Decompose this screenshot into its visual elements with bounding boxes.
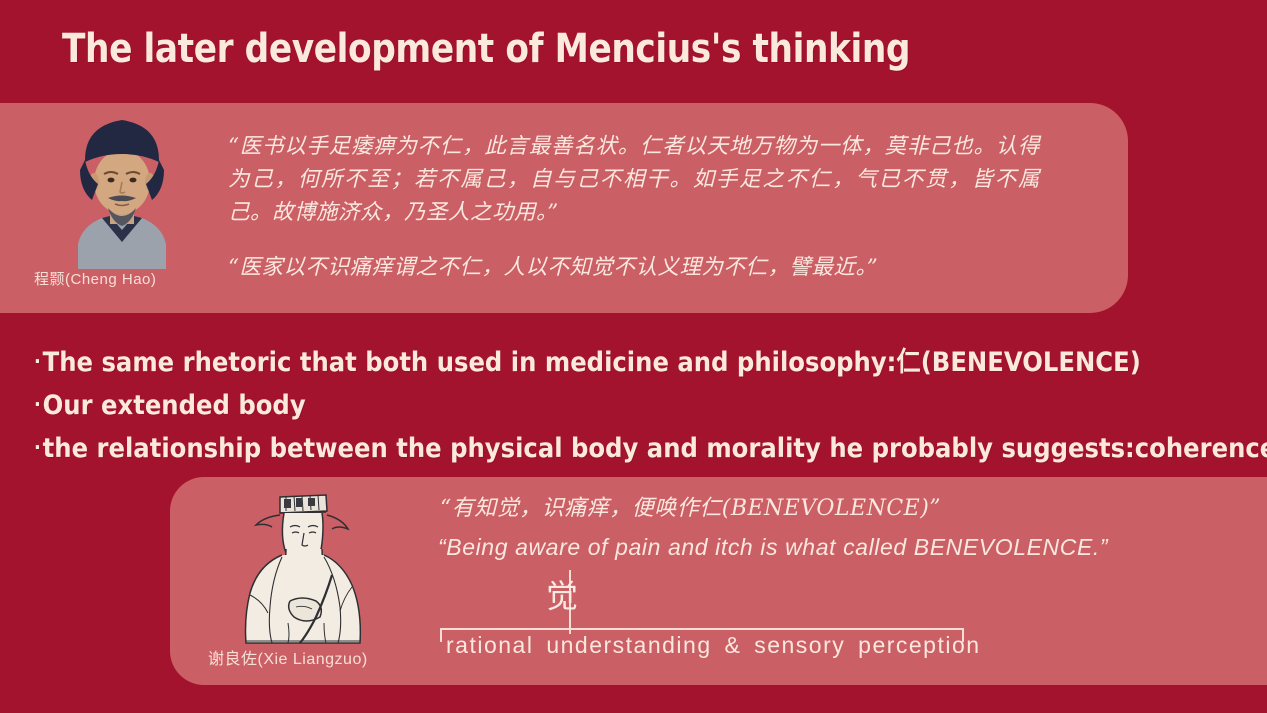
diagram-gloss-label: rational understanding & sensory percept… [446, 632, 981, 659]
bullet-list: ·The same rhetoric that both used in med… [34, 342, 1254, 471]
bullet-item-1: ·The same rhetoric that both used in med… [34, 342, 1132, 385]
portrait-xie-liangzuo-icon [228, 483, 378, 653]
diagram-character: 觉 [546, 578, 578, 614]
bullet-marker-icon: · [34, 385, 41, 424]
bullet-marker-icon: · [34, 342, 41, 381]
bullet-item-2: ·Our extended body [34, 385, 1132, 428]
top-quote-2: “医家以不识痛痒谓之不仁，人以不知觉不认义理为不仁，譬最近。” [228, 251, 1040, 284]
portrait-cheng-hao-caption: 程颢(Cheng Hao) [34, 268, 214, 289]
portrait-xie-liangzuo-caption: 谢良佐(Xie Liangzuo) [208, 645, 368, 669]
bullet-item-1-label: The same rhetoric that both used in medi… [43, 347, 1141, 378]
page-title: The later development of Mencius's think… [62, 26, 910, 72]
portrait-cheng-hao-icon [58, 104, 186, 269]
bullet-item-2-label: Our extended body [43, 390, 306, 421]
bottom-quote-english: “Being aware of pain and itch is what ca… [438, 534, 1238, 561]
bottom-quote-chinese: “有知觉，识痛痒，便唤作仁(BENEVOLENCE)” [440, 490, 941, 522]
top-quote-1: “医书以手足痿痹为不仁，此言最善名状。仁者以天地万物为一体，莫非己也。认得为己，… [228, 130, 1040, 229]
awareness-diagram: 觉 rational understanding & sensory perce… [438, 570, 968, 670]
bullet-marker-icon: · [34, 428, 41, 467]
top-quote-text-group: “医书以手足痿痹为不仁，此言最善名状。仁者以天地万物为一体，莫非己也。认得为己，… [228, 130, 1040, 284]
bullet-item-3: ·the relationship between the physical b… [34, 428, 1132, 471]
bullet-item-3-label: the relationship between the physical bo… [43, 433, 1267, 464]
